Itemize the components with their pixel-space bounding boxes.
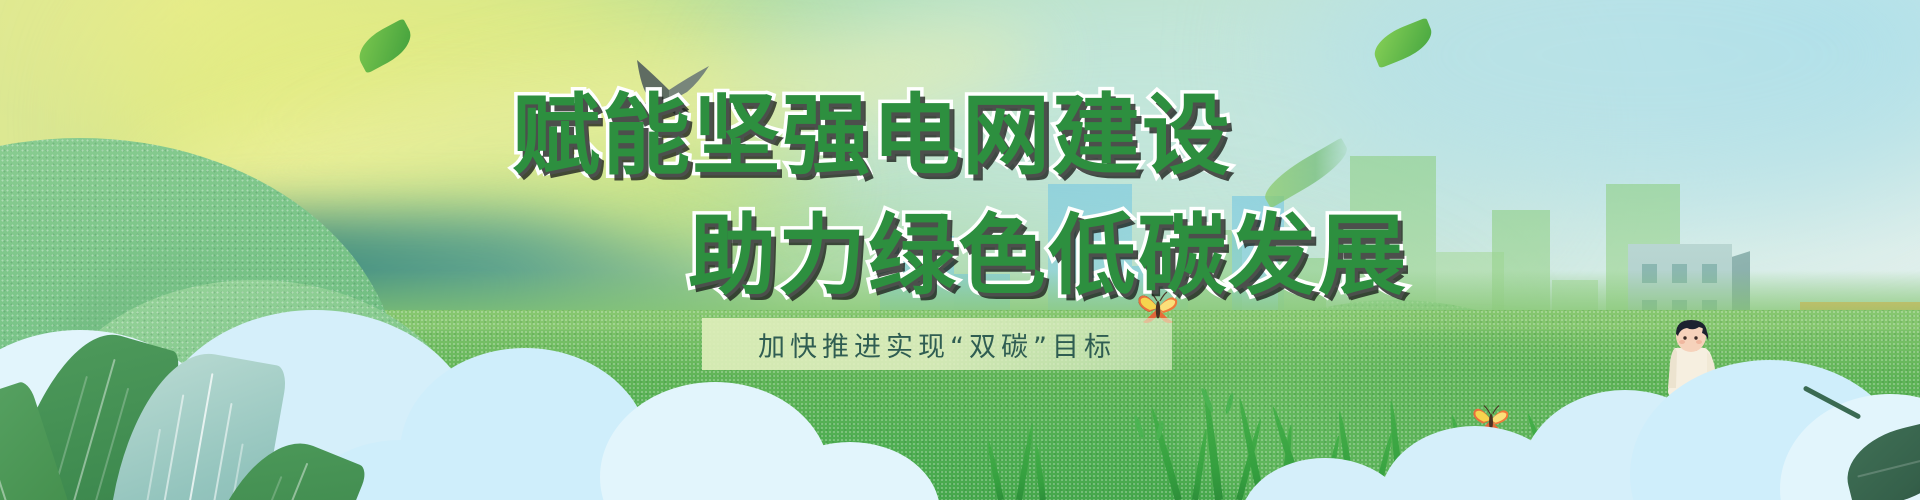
- headline-line-2: 助力绿色低碳发展: [688, 212, 1408, 300]
- subtitle-text: 加快推进实现“双碳”目标: [702, 318, 1172, 370]
- headline-line-1: 赋能坚强电网建设: [512, 92, 1232, 180]
- banner-canvas: 赋能坚强电网建设 助力绿色低碳发展 加快推进实现“双碳”目标: [0, 0, 1920, 500]
- cloud-puff: [1240, 458, 1410, 500]
